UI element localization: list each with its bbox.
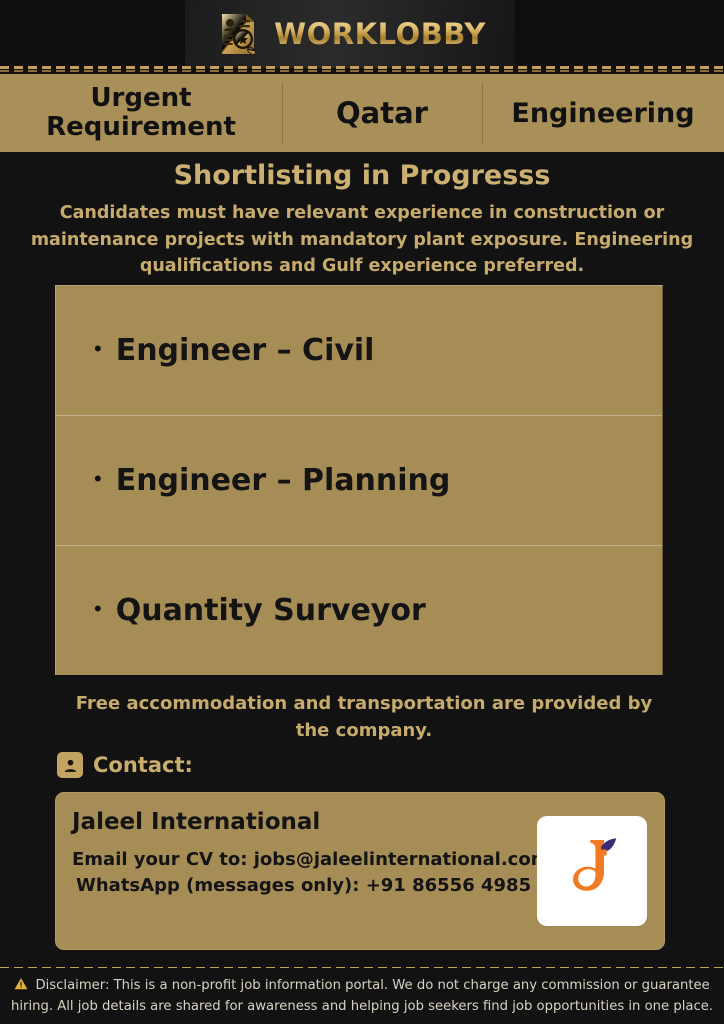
header-divider-1 [282,82,283,144]
header-segment-location: Qatar [282,74,482,152]
list-item[interactable]: • Engineer – Planning [56,416,662,546]
bullet-icon: • [94,598,102,620]
header-segment-field: Engineering [482,74,724,152]
job-vacancy-list: • Engineer – Civil • Engineer – Planning… [55,285,663,675]
job-title: Quantity Surveyor [116,593,426,628]
header-segment-urgency: Urgent Requirement [0,74,282,152]
job-title: Engineer – Civil [116,333,375,368]
resume-magnifier-star-icon [214,10,262,58]
brand-bar: WORKLOBBY [0,0,724,68]
top-dashed-rule-upper [0,66,724,69]
company-name: Jaleel International [72,809,320,835]
list-item[interactable]: • Engineer – Civil [56,286,662,416]
list-item[interactable]: • Quantity Surveyor [56,546,662,675]
brand-name: WORKLOBBY [274,17,486,51]
requirements-summary: Candidates must have relevant experience… [22,200,702,280]
job-title: Engineer – Planning [116,463,451,498]
disclaimer-text: Disclaimer: This is a non-profit job inf… [11,978,713,1014]
brand-lockup: WORKLOBBY [185,0,515,68]
contact-card: Jaleel International Email your CV to: j… [55,792,665,950]
email-line[interactable]: Email your CV to: jobs@jaleelinternation… [72,849,549,870]
contact-heading: Contact: [57,752,193,778]
disclaimer-footer: Disclaimer: This is a non-profit job inf… [0,968,724,1024]
category-header-band: Urgent Requirement Qatar Engineering [0,74,724,152]
whatsapp-line[interactable]: WhatsApp (messages only): +91 86556 4985 [76,875,531,896]
disclaimer-block: Disclaimer: This is a non-profit job inf… [4,976,720,1016]
top-dashed-rule-lower [0,70,724,72]
bullet-icon: • [94,468,102,490]
header-divider-2 [482,82,483,144]
contact-heading-text: Contact: [93,753,193,777]
jaleel-j-leaf-logo [537,816,647,926]
person-badge-icon [57,752,83,778]
page-headline: Shortlisting in Progresss [0,160,724,191]
warning-triangle-icon [14,980,32,995]
bullet-icon: • [94,338,102,360]
benefits-note: Free accommodation and transportation ar… [60,690,668,744]
